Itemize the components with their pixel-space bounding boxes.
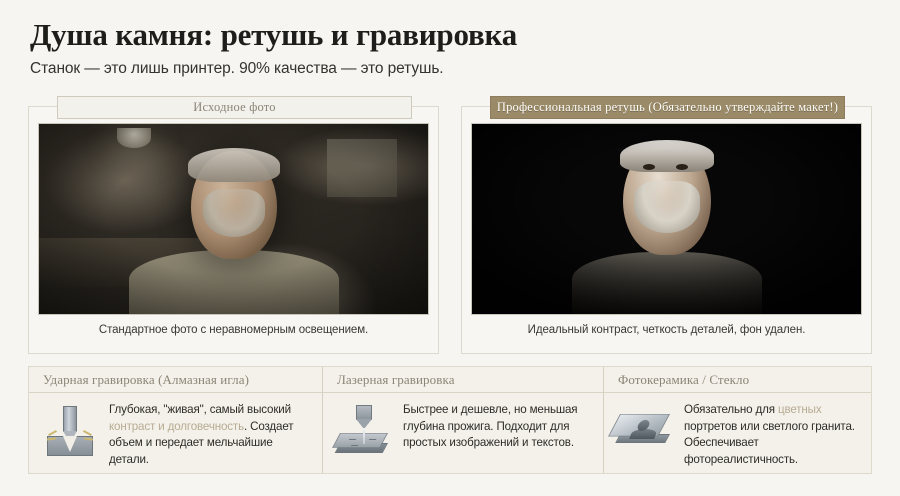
diamond-needle-icon bbox=[41, 402, 99, 460]
method-title-impact: Ударная гравировка (Алмазная игла) bbox=[29, 367, 322, 393]
method-text-ceramic: Обязательно для цветных портретов или св… bbox=[684, 402, 861, 468]
laser-nozzle-shape bbox=[356, 405, 372, 420]
method-panel-impact: Ударная гравировка (Алмазная игла) Глубо… bbox=[29, 367, 323, 473]
burn-mark-shape bbox=[351, 445, 359, 446]
method-text-laser: Быстрее и дешевле, но меньшая глубина пр… bbox=[403, 402, 593, 452]
photo-frame-retouched bbox=[471, 123, 862, 315]
caption-original: Стандартное фото с неравномерным освещен… bbox=[38, 324, 429, 336]
needle-shaft-shape bbox=[63, 406, 77, 432]
method-text-impact: Глубокая, "живая", самый высокий контрас… bbox=[109, 402, 312, 468]
method-panel-laser: Лазерная гравировка Быстрее и дешевле, н… bbox=[323, 367, 604, 473]
slab-top-shape bbox=[332, 433, 388, 448]
method-accent-impact: контраст и долговечность bbox=[109, 420, 244, 433]
ribbon-label-original: Исходное фото bbox=[57, 96, 412, 119]
spark-shape bbox=[48, 430, 57, 436]
comparison-row: Исходное фото Стандартное фото с неравно… bbox=[28, 106, 872, 354]
engraved-notch-shape bbox=[63, 436, 77, 452]
method-body-impact: Глубокая, "живая", самый высокий контрас… bbox=[29, 393, 322, 468]
method-panel-ceramic: Фотокерамика / Стекло Обязательно для цв… bbox=[604, 367, 871, 473]
methods-panel: Ударная гравировка (Алмазная игла) Глубо… bbox=[28, 366, 872, 474]
method-title-laser: Лазерная гравировка bbox=[323, 367, 603, 393]
method-text-lead: Обязательно для bbox=[684, 403, 778, 416]
method-body-laser: Быстрее и дешевле, но меньшая глубина пр… bbox=[323, 393, 603, 460]
compare-card-original: Исходное фото Стандартное фото с неравно… bbox=[28, 106, 439, 354]
caption-retouched: Идеальный контраст, четкость деталей, фо… bbox=[471, 324, 862, 336]
page-title: Душа камня: ретушь и гравировка bbox=[30, 18, 876, 52]
method-text-tail: портретов или светлого гранита. Обеспечи… bbox=[684, 420, 855, 466]
photo-vignette bbox=[39, 124, 428, 314]
laser-beam-shape bbox=[363, 428, 365, 444]
photo-frame-original bbox=[38, 123, 429, 315]
method-body-ceramic: Обязательно для цветных портретов или св… bbox=[604, 393, 871, 468]
burn-mark-shape bbox=[349, 439, 357, 440]
method-text-lead: Быстрее и дешевле, но меньшая глубина пр… bbox=[403, 403, 577, 449]
spark-shape bbox=[83, 430, 92, 436]
method-text-lead: Глубокая, "живая", самый высокий bbox=[109, 403, 291, 416]
page-subtitle: Станок — это лишь принтер. 90% качества … bbox=[30, 60, 876, 78]
photo-plaque-icon bbox=[616, 402, 674, 460]
compare-card-retouched: Профессиональная ретушь (Обязательно утв… bbox=[461, 106, 872, 354]
slide-header: Душа камня: ретушь и гравировка Станок —… bbox=[30, 18, 876, 78]
method-accent-ceramic: цветных bbox=[778, 403, 822, 416]
method-title-ceramic: Фотокерамика / Стекло bbox=[604, 367, 871, 393]
photo-retouched bbox=[472, 124, 861, 314]
slide-root: Душа камня: ретушь и гравировка Станок —… bbox=[0, 0, 900, 496]
laser-head-icon bbox=[335, 402, 393, 460]
photo-original bbox=[39, 124, 428, 314]
photo-retouched-vignette bbox=[472, 124, 861, 314]
burn-mark-shape bbox=[369, 439, 377, 440]
ribbon-label-retouched: Профессиональная ретушь (Обязательно утв… bbox=[490, 96, 845, 119]
